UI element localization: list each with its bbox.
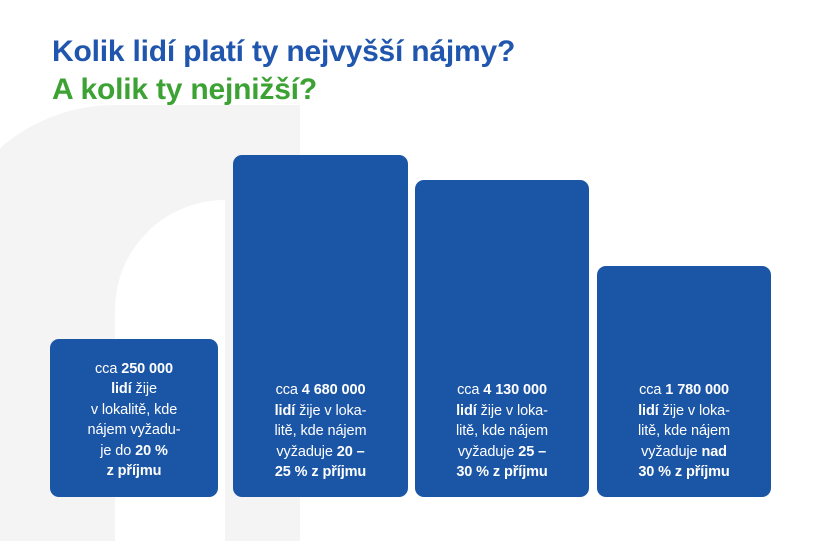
bar-column-2[interactable]: cca 4 680 000lidí žije v loka-litě, kde …: [233, 155, 408, 497]
bar-label-1: cca 250 000lidí žijev lokalitě, kdenájem…: [88, 359, 181, 483]
headline-block: Kolik lidí platí ty nejvyšší nájmy? A ko…: [52, 33, 752, 110]
headline-secondary: A kolik ty nejnižší?: [52, 71, 752, 109]
headline-primary: Kolik lidí platí ty nejvyšší nájmy?: [52, 33, 752, 71]
infographic-canvas: Kolik lidí platí ty nejvyšší nájmy? A ko…: [0, 0, 820, 541]
bar-label-4: cca 1 780 000lidí žije v loka-litě, kde …: [638, 380, 730, 483]
bar-label-2: cca 4 680 000lidí žije v loka-litě, kde …: [275, 380, 367, 483]
bar-label-3: cca 4 130 000lidí žije v loka-litě, kde …: [456, 380, 548, 483]
bar-column-1[interactable]: cca 250 000lidí žijev lokalitě, kdenájem…: [50, 339, 218, 497]
bar-column-4[interactable]: cca 1 780 000lidí žije v loka-litě, kde …: [597, 266, 771, 497]
bar-column-3[interactable]: cca 4 130 000lidí žije v loka-litě, kde …: [415, 180, 589, 497]
